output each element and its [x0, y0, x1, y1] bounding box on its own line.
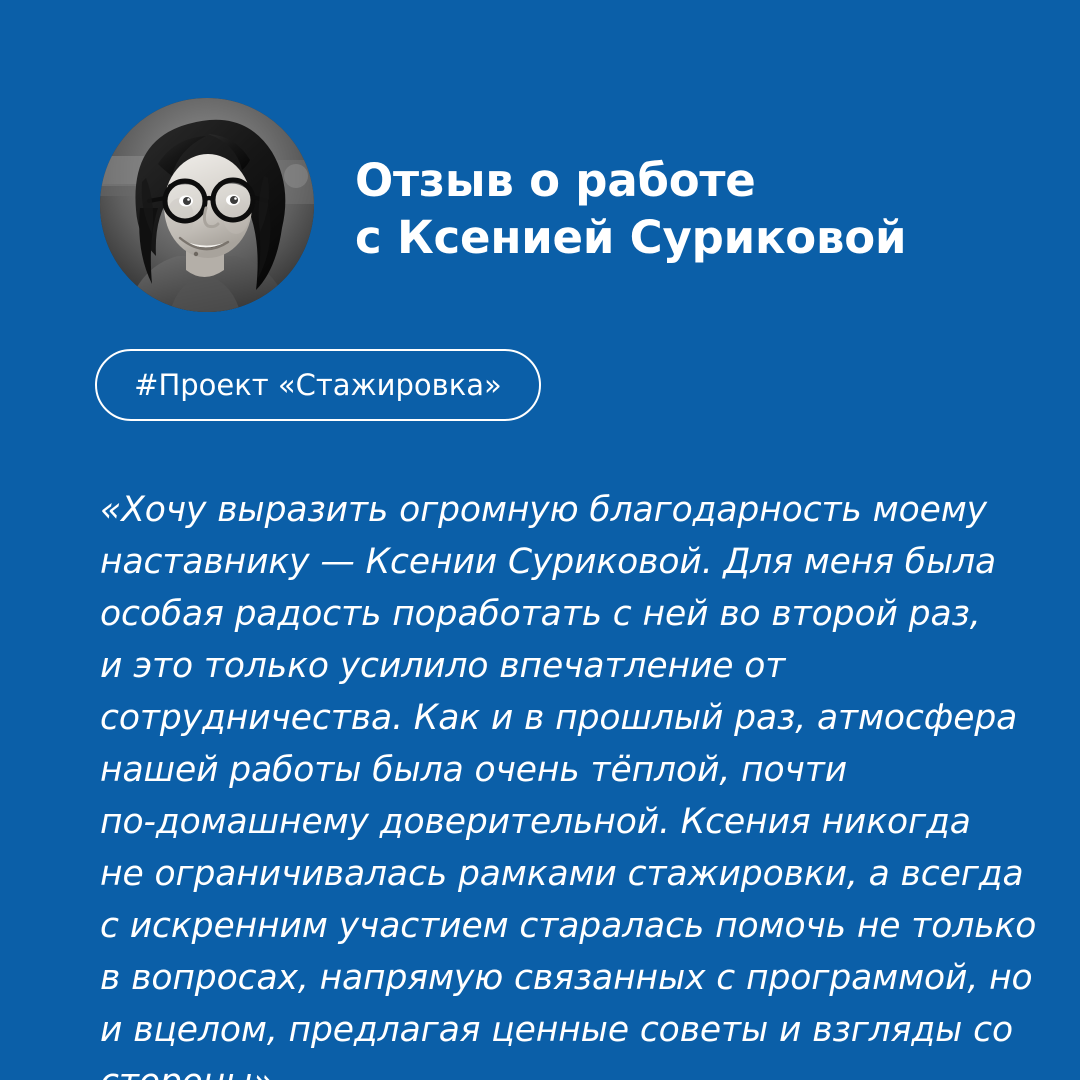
- quote-line: нашей работы была очень тёплой, почти: [100, 744, 980, 796]
- title-line-1: Отзыв о работе: [355, 152, 1015, 209]
- title-line-2: с Ксенией Суриковой: [355, 209, 1015, 266]
- quote-line: и вцелом, предлагая ценные советы и взгл…: [100, 1004, 980, 1056]
- quote-line: стороны».: [100, 1056, 980, 1080]
- avatar: [100, 98, 314, 312]
- portrait-photo-icon: [100, 98, 314, 312]
- quote-line: сотрудничества. Как и в прошлый раз, атм…: [100, 692, 980, 744]
- project-tag-badge[interactable]: #Проект «Стажировка»: [95, 349, 541, 421]
- quote-line: наставнику — Ксении Суриковой. Для меня …: [100, 536, 980, 588]
- quote-line: с искренним участием старалась помочь не…: [100, 900, 980, 952]
- quote-line: не ограничивалась рамками стажировки, а …: [100, 848, 980, 900]
- testimonial-quote: «Хочу выразить огромную благодарность мо…: [100, 484, 980, 1080]
- project-tag-label: #Проект «Стажировка»: [134, 371, 502, 400]
- testimonial-card: Отзыв о работе с Ксенией Суриковой #Прое…: [0, 0, 1080, 1080]
- quote-line: по-домашнему доверительной. Ксения никог…: [100, 796, 980, 848]
- quote-line: в вопросах, напрямую связанных с програм…: [100, 952, 980, 1004]
- quote-line: «Хочу выразить огромную благодарность мо…: [100, 484, 980, 536]
- page-title: Отзыв о работе с Ксенией Суриковой: [355, 152, 1015, 266]
- quote-line: и это только усилило впечатление от: [100, 640, 980, 692]
- quote-line: особая радость поработать с ней во второ…: [100, 588, 980, 640]
